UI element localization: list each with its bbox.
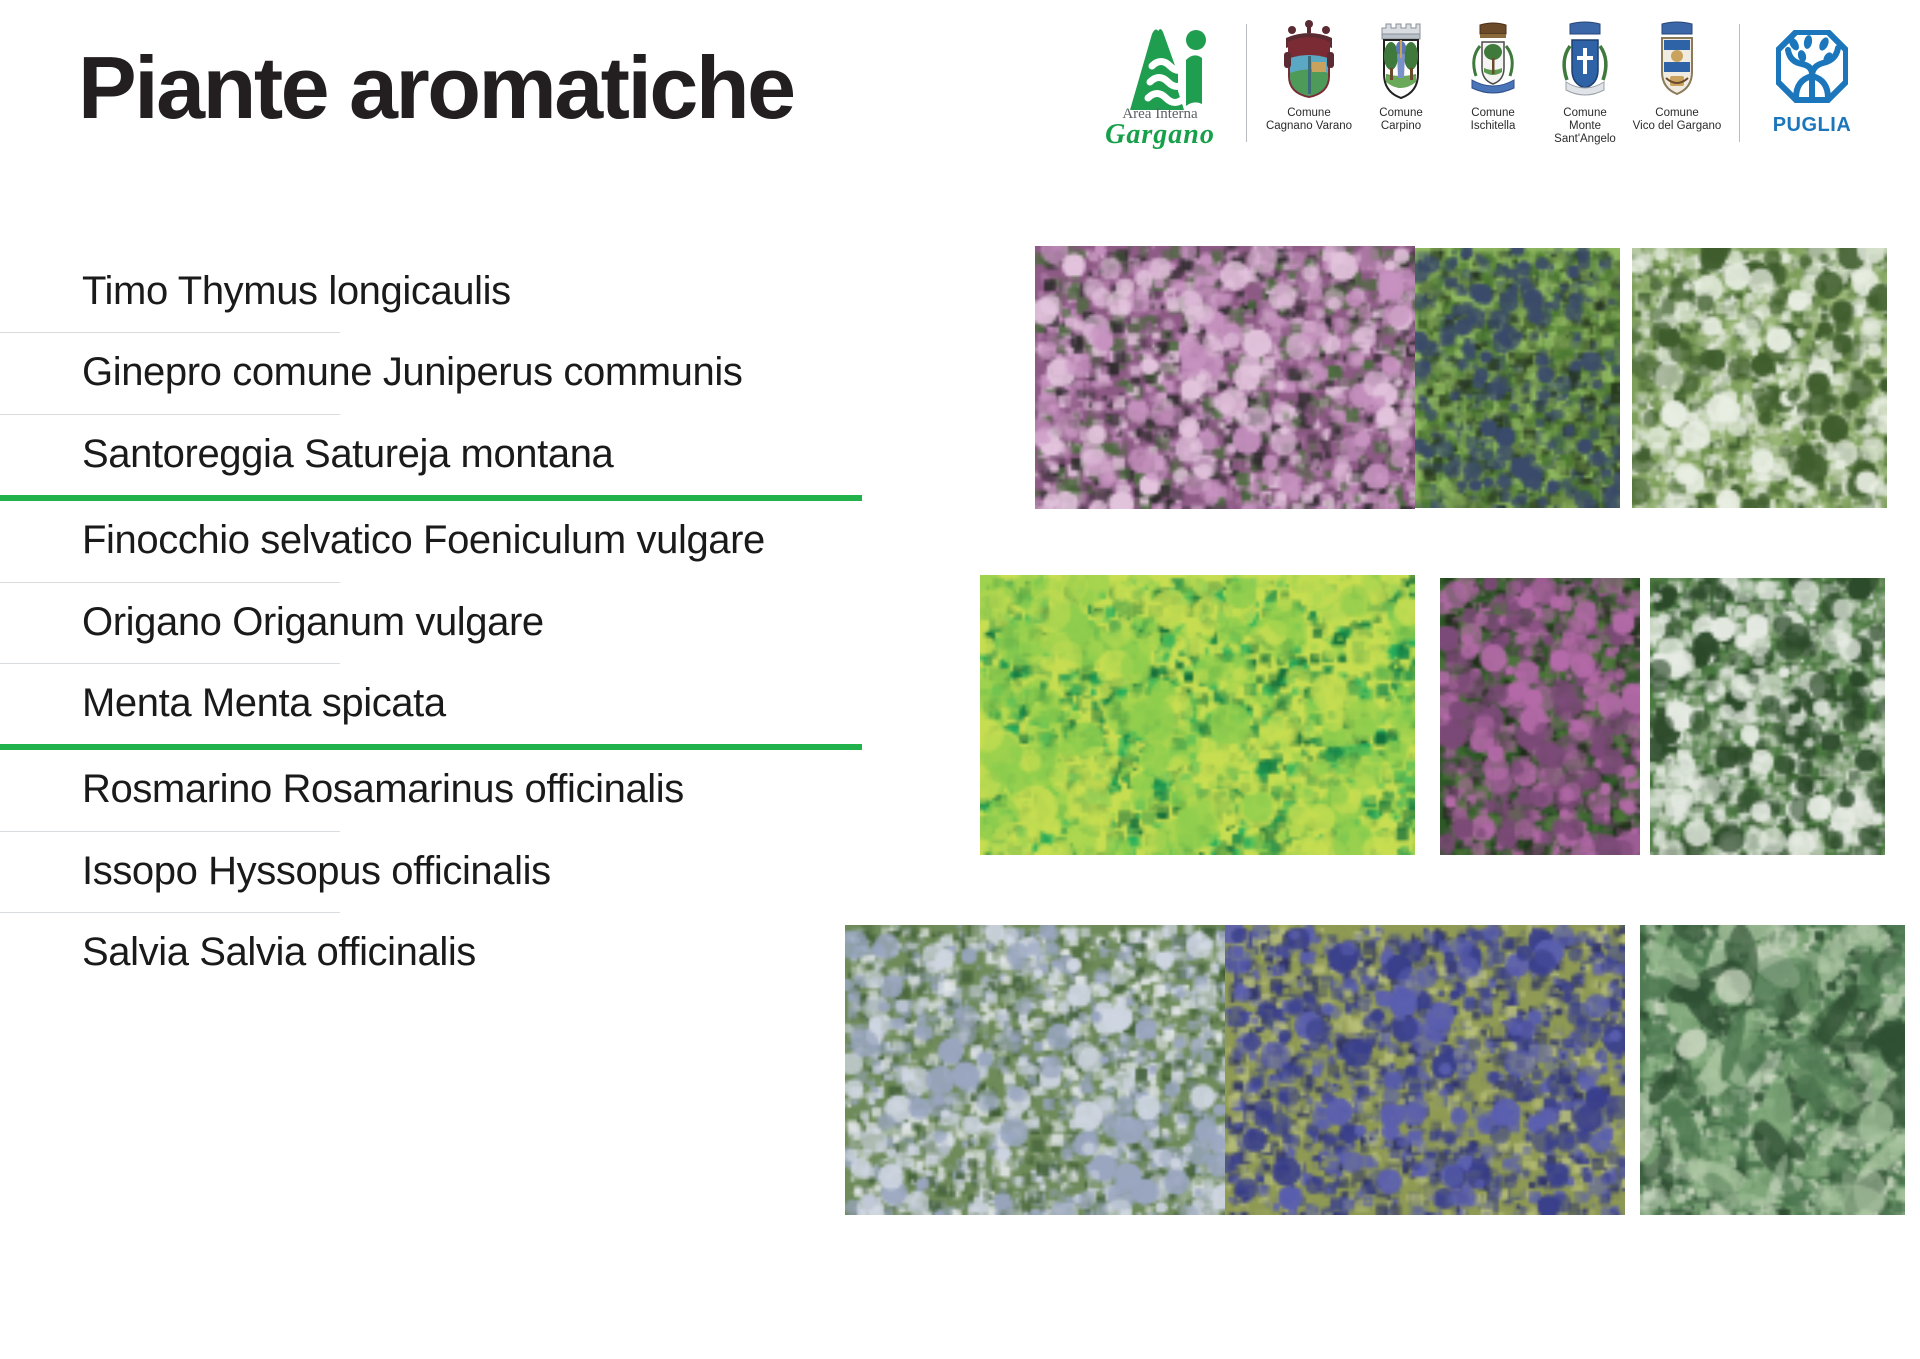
logo-divider bbox=[1246, 24, 1247, 142]
gargano-logo-line2: Gargano bbox=[1105, 119, 1215, 151]
slide-root: Piante aromatiche Area Interna Gargano bbox=[0, 0, 1920, 1359]
list-item[interactable]: Finocchio selvatico Foeniculum vulgare bbox=[0, 501, 862, 582]
comune-prefix: Comune bbox=[1287, 107, 1330, 119]
plant-name: Origano Origanum vulgare bbox=[0, 583, 862, 663]
plant-name: Salvia Salvia officinalis bbox=[0, 913, 862, 993]
comune-cagnano-varano: Comune Cagnano Varano bbox=[1263, 18, 1355, 133]
photo-rosemary bbox=[845, 925, 1225, 1215]
plant-name: Ginepro comune Juniperus communis bbox=[0, 333, 862, 413]
list-item[interactable]: Ginepro comune Juniperus communis bbox=[0, 333, 862, 414]
area-interna-gargano-logo: Area Interna Gargano bbox=[1090, 18, 1230, 151]
puglia-label: PUGLIA bbox=[1773, 114, 1852, 137]
photo-savory bbox=[1632, 248, 1887, 508]
comune-label: Comune Ischitella bbox=[1471, 107, 1516, 133]
comune-label: Comune Monte Sant'Angelo bbox=[1539, 107, 1631, 147]
list-item[interactable]: Timo Thymus longicaulis bbox=[0, 252, 862, 333]
photo-juniper bbox=[1415, 248, 1620, 508]
comune-label: Comune Carpino bbox=[1379, 107, 1422, 133]
comune-monte-santangelo: Comune Monte Sant'Angelo bbox=[1539, 18, 1631, 147]
comune-name: Carpino bbox=[1381, 120, 1421, 132]
coat-of-arms-cagnano-varano-icon bbox=[1278, 18, 1340, 104]
coat-of-arms-vico-del-gargano-icon bbox=[1646, 18, 1708, 104]
photo-savory-canvas bbox=[1632, 248, 1887, 508]
photo-thyme-canvas bbox=[1035, 246, 1415, 509]
comune-label: Comune Vico del Gargano bbox=[1633, 107, 1722, 133]
logo-bar: Area Interna Gargano bbox=[1090, 18, 1868, 158]
page-title: Piante aromatiche bbox=[78, 42, 794, 134]
photo-juniper-canvas bbox=[1415, 248, 1620, 508]
photo-mint bbox=[1650, 578, 1885, 855]
comune-carpino: Comune Carpino bbox=[1355, 18, 1447, 133]
list-item[interactable]: Santoreggia Satureja montana bbox=[0, 415, 862, 501]
photo-hyssop bbox=[1225, 925, 1625, 1215]
comune-name: Vico del Gargano bbox=[1633, 120, 1722, 132]
list-item[interactable]: Menta Menta spicata bbox=[0, 664, 862, 750]
list-item[interactable]: Rosmarino Rosamarinus officinalis bbox=[0, 750, 862, 831]
plant-name: Rosmarino Rosamarinus officinalis bbox=[0, 750, 862, 830]
comune-name: Cagnano Varano bbox=[1266, 120, 1352, 132]
comune-name: Monte Sant'Angelo bbox=[1554, 120, 1616, 145]
comune-prefix: Comune bbox=[1471, 107, 1514, 119]
logo-divider-2 bbox=[1739, 24, 1740, 142]
photo-mint-canvas bbox=[1650, 578, 1885, 855]
comune-ischitella: Comune Ischitella bbox=[1447, 18, 1539, 133]
photo-oregano-canvas bbox=[1440, 578, 1640, 855]
photo-sage bbox=[1640, 925, 1905, 1215]
comune-prefix: Comune bbox=[1379, 107, 1422, 119]
puglia-logo: PUGLIA bbox=[1756, 18, 1868, 137]
photo-hyssop-canvas bbox=[1225, 925, 1625, 1215]
list-item[interactable]: Origano Origanum vulgare bbox=[0, 583, 862, 664]
comune-prefix: Comune bbox=[1563, 107, 1606, 119]
coat-of-arms-monte-santangelo-icon bbox=[1554, 18, 1616, 104]
plant-name: Menta Menta spicata bbox=[0, 664, 862, 744]
mountain-waves-icon bbox=[1100, 24, 1220, 112]
photo-fennel-canvas bbox=[980, 575, 1415, 855]
mural-crown bbox=[1382, 24, 1420, 39]
list-item[interactable]: Salvia Salvia officinalis bbox=[0, 913, 862, 993]
photo-fennel bbox=[980, 575, 1415, 855]
comune-label: Comune Cagnano Varano bbox=[1266, 107, 1352, 133]
list-item[interactable]: Issopo Hyssopus officinalis bbox=[0, 832, 862, 913]
plant-name: Timo Thymus longicaulis bbox=[0, 252, 862, 332]
photo-rosemary-canvas bbox=[845, 925, 1225, 1215]
puglia-tree-icon bbox=[1776, 30, 1848, 106]
comune-prefix: Comune bbox=[1655, 107, 1698, 119]
comune-name: Ischitella bbox=[1471, 120, 1516, 132]
plant-name: Issopo Hyssopus officinalis bbox=[0, 832, 862, 912]
plant-name: Finocchio selvatico Foeniculum vulgare bbox=[0, 501, 862, 581]
coat-of-arms-ischitella-icon bbox=[1462, 18, 1524, 104]
plant-name: Santoreggia Satureja montana bbox=[0, 415, 862, 495]
comune-vico-del-gargano: Comune Vico del Gargano bbox=[1631, 18, 1723, 133]
photo-thyme bbox=[1035, 246, 1415, 509]
plant-list: Timo Thymus longicaulis Ginepro comune J… bbox=[0, 252, 862, 994]
photo-oregano bbox=[1440, 578, 1640, 855]
coat-of-arms-carpino-icon bbox=[1370, 18, 1432, 104]
photo-sage-canvas bbox=[1640, 925, 1905, 1215]
